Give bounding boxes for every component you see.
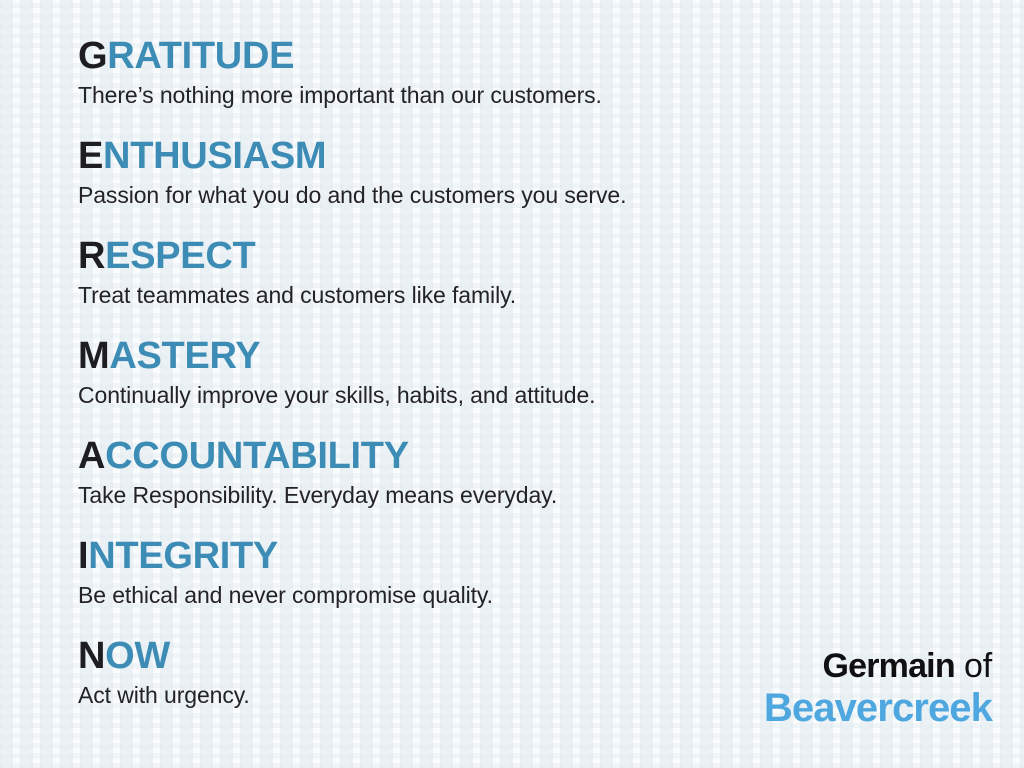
value-block-gratitude: GRATITUDE There’s nothing more important… — [78, 34, 978, 134]
value-remaining-letters: ESPECT — [105, 235, 255, 277]
value-initial-letter: G — [78, 35, 107, 77]
value-block-accountability: ACCOUNTABILITY Take Responsibility. Ever… — [78, 434, 978, 534]
value-remaining-letters: NTEGRITY — [88, 535, 278, 577]
value-initial-letter: A — [78, 435, 105, 477]
value-description-enthusiasm: Passion for what you do and the customer… — [78, 180, 978, 210]
brand-logo-location: Beavercreek — [764, 686, 992, 730]
value-description-accountability: Take Responsibility. Everyday means ever… — [78, 480, 978, 510]
value-initial-letter: M — [78, 335, 109, 377]
value-heading-gratitude: GRATITUDE — [78, 34, 978, 78]
values-list: GRATITUDE There’s nothing more important… — [78, 34, 978, 734]
value-initial-letter: R — [78, 235, 105, 277]
value-block-mastery: MASTERY Continually improve your skills,… — [78, 334, 978, 434]
value-initial-letter: E — [78, 135, 103, 177]
value-heading-enthusiasm: ENTHUSIASM — [78, 134, 978, 178]
brand-logo: Germain of Beavercreek — [764, 647, 992, 730]
value-block-enthusiasm: ENTHUSIASM Passion for what you do and t… — [78, 134, 978, 234]
value-description-integrity: Be ethical and never compromise quality. — [78, 580, 978, 610]
brand-logo-line-1: Germain of — [764, 647, 992, 685]
value-remaining-letters: OW — [105, 635, 170, 677]
value-remaining-letters: RATITUDE — [107, 35, 294, 77]
value-remaining-letters: NTHUSIASM — [103, 135, 326, 177]
value-remaining-letters: CCOUNTABILITY — [105, 435, 409, 477]
value-description-respect: Treat teammates and customers like famil… — [78, 280, 978, 310]
value-heading-respect: RESPECT — [78, 234, 978, 278]
value-initial-letter: I — [78, 535, 88, 577]
value-heading-integrity: INTEGRITY — [78, 534, 978, 578]
value-block-respect: RESPECT Treat teammates and customers li… — [78, 234, 978, 334]
brand-logo-name: Germain — [822, 647, 954, 685]
value-block-integrity: INTEGRITY Be ethical and never compromis… — [78, 534, 978, 634]
value-initial-letter: N — [78, 635, 105, 677]
value-description-mastery: Continually improve your skills, habits,… — [78, 380, 978, 410]
value-remaining-letters: ASTERY — [109, 335, 260, 377]
brand-logo-connector: of — [955, 647, 992, 685]
value-heading-accountability: ACCOUNTABILITY — [78, 434, 978, 478]
value-description-gratitude: There’s nothing more important than our … — [78, 80, 978, 110]
value-heading-mastery: MASTERY — [78, 334, 978, 378]
core-values-poster: GRATITUDE There’s nothing more important… — [0, 0, 1024, 768]
